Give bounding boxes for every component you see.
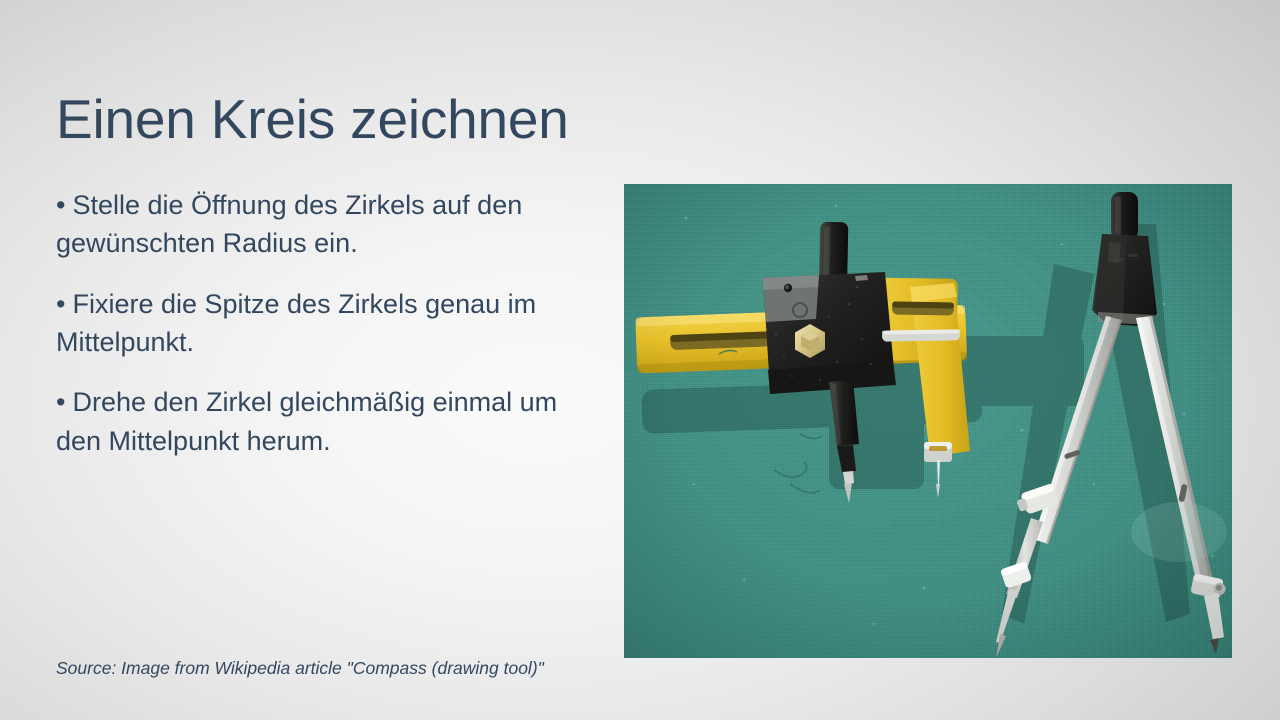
list-item: •Fixiere die Spitze des Zirkels genau im… — [56, 285, 601, 362]
bullet-text: Drehe den Zirkel gleichmäßig einmal um d… — [56, 387, 557, 455]
bullet-marker-icon: • — [56, 387, 65, 417]
bullet-marker-icon: • — [56, 289, 65, 319]
page-title: Einen Kreis zeichnen — [56, 89, 956, 151]
list-item: •Drehe den Zirkel gleichmäßig einmal um … — [56, 383, 601, 460]
source-caption: Source: Image from Wikipedia article "Co… — [56, 658, 544, 679]
photo-vignette — [624, 184, 1232, 658]
list-item: •Stelle die Öffnung des Zirkels auf den … — [56, 186, 601, 263]
bullet-text: Fixiere die Spitze des Zirkels genau im … — [56, 289, 536, 357]
bullet-marker-icon: • — [56, 190, 65, 220]
bullet-text: Stelle die Öffnung des Zirkels auf den g… — [56, 190, 522, 258]
slide-canvas: Einen Kreis zeichnen •Stelle die Öffnung… — [0, 0, 1280, 720]
compass-photo — [624, 184, 1232, 658]
bullet-list: •Stelle die Öffnung des Zirkels auf den … — [56, 186, 601, 460]
